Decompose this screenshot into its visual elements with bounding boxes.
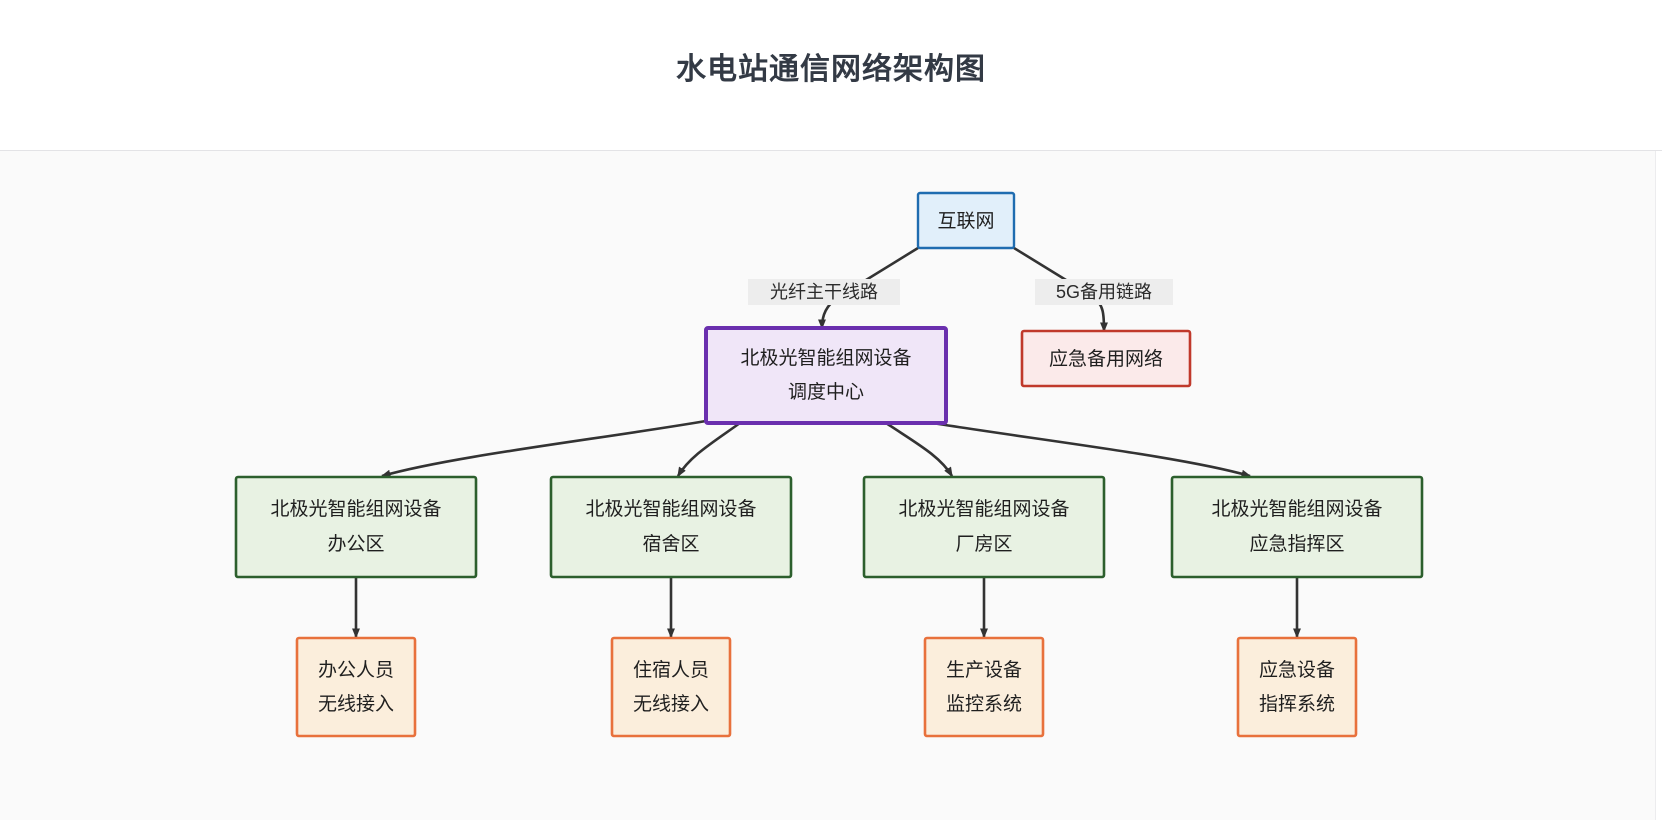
- edge-center-to-zone-office: [382, 421, 706, 476]
- page-title: 水电站通信网络架构图: [676, 44, 986, 106]
- node-term-office-box[interactable]: [297, 638, 415, 736]
- node-zone-dorm-line2: 宿舍区: [642, 533, 699, 555]
- node-term-emergency-line1: 应急设备: [1259, 659, 1335, 681]
- diagram-page: 水电站通信网络架构图: [0, 0, 1662, 820]
- edge-label-fiber-backbone: 光纤主干线路: [748, 279, 900, 305]
- edge-label-5g-backup: 5G备用链路: [1035, 279, 1173, 305]
- node-zone-emergency-box[interactable]: [1172, 477, 1422, 577]
- node-center-dispatch-line2: 调度中心: [788, 381, 864, 403]
- node-term-dorm[interactable]: 住宿人员 无线接入: [612, 638, 730, 736]
- node-zone-emergency-line2: 应急指挥区: [1249, 533, 1344, 555]
- edge-center-to-zone-emergency: [920, 421, 1250, 476]
- flowchart-svg: 光纤主干线路 5G备用链路 互联网 北极光智能组网设备 调度中心: [0, 151, 1656, 820]
- node-zone-office[interactable]: 北极光智能组网设备 办公区: [236, 477, 476, 577]
- node-zone-office-line2: 办公区: [327, 533, 384, 555]
- node-internet-label: 互联网: [937, 210, 994, 232]
- node-emergency-backup-network[interactable]: 应急备用网络: [1022, 331, 1190, 386]
- node-term-dorm-box[interactable]: [612, 638, 730, 736]
- node-center-dispatch-box[interactable]: [706, 328, 946, 423]
- node-term-office-line1: 办公人员: [318, 659, 394, 681]
- node-emergency-backup-network-label: 应急备用网络: [1049, 348, 1163, 370]
- node-zone-office-box[interactable]: [236, 477, 476, 577]
- node-zone-plant-box[interactable]: [864, 477, 1104, 577]
- node-term-plant-line1: 生产设备: [946, 659, 1022, 681]
- diagram-canvas: 光纤主干线路 5G备用链路 互联网 北极光智能组网设备 调度中心: [0, 151, 1656, 820]
- edge-center-to-zone-dorm: [678, 423, 740, 476]
- node-term-dorm-line1: 住宿人员: [633, 659, 709, 681]
- edge-label-group: 光纤主干线路 5G备用链路: [748, 279, 1173, 305]
- node-center-dispatch-line1: 北极光智能组网设备: [740, 347, 911, 369]
- node-term-office[interactable]: 办公人员 无线接入: [297, 638, 415, 736]
- node-term-plant-box[interactable]: [925, 638, 1043, 736]
- node-zone-dorm-line1: 北极光智能组网设备: [585, 498, 756, 520]
- node-zone-plant[interactable]: 北极光智能组网设备 厂房区: [864, 477, 1104, 577]
- node-zone-office-line1: 北极光智能组网设备: [270, 498, 441, 520]
- node-center-dispatch[interactable]: 北极光智能组网设备 调度中心: [706, 328, 946, 423]
- edge-label-5g-backup-text: 5G备用链路: [1056, 282, 1152, 302]
- edge-label-fiber-backbone-text: 光纤主干线路: [770, 282, 878, 302]
- node-zone-plant-line1: 北极光智能组网设备: [898, 498, 1069, 520]
- node-zone-dorm[interactable]: 北极光智能组网设备 宿舍区: [551, 477, 791, 577]
- node-term-office-line2: 无线接入: [318, 693, 394, 715]
- edge-group: [356, 248, 1297, 637]
- node-term-emergency[interactable]: 应急设备 指挥系统: [1238, 638, 1356, 736]
- node-internet[interactable]: 互联网: [918, 193, 1014, 248]
- node-term-plant-line2: 监控系统: [946, 693, 1022, 715]
- node-term-plant[interactable]: 生产设备 监控系统: [925, 638, 1043, 736]
- node-zone-dorm-box[interactable]: [551, 477, 791, 577]
- page-header: 水电站通信网络架构图: [0, 0, 1662, 151]
- node-term-dorm-line2: 无线接入: [633, 693, 709, 715]
- node-zone-emergency-line1: 北极光智能组网设备: [1211, 498, 1382, 520]
- node-term-emergency-line2: 指挥系统: [1259, 693, 1335, 715]
- node-term-emergency-box[interactable]: [1238, 638, 1356, 736]
- node-zone-plant-line2: 厂房区: [955, 533, 1012, 555]
- edge-center-to-zone-plant: [886, 423, 952, 476]
- node-zone-emergency[interactable]: 北极光智能组网设备 应急指挥区: [1172, 477, 1422, 577]
